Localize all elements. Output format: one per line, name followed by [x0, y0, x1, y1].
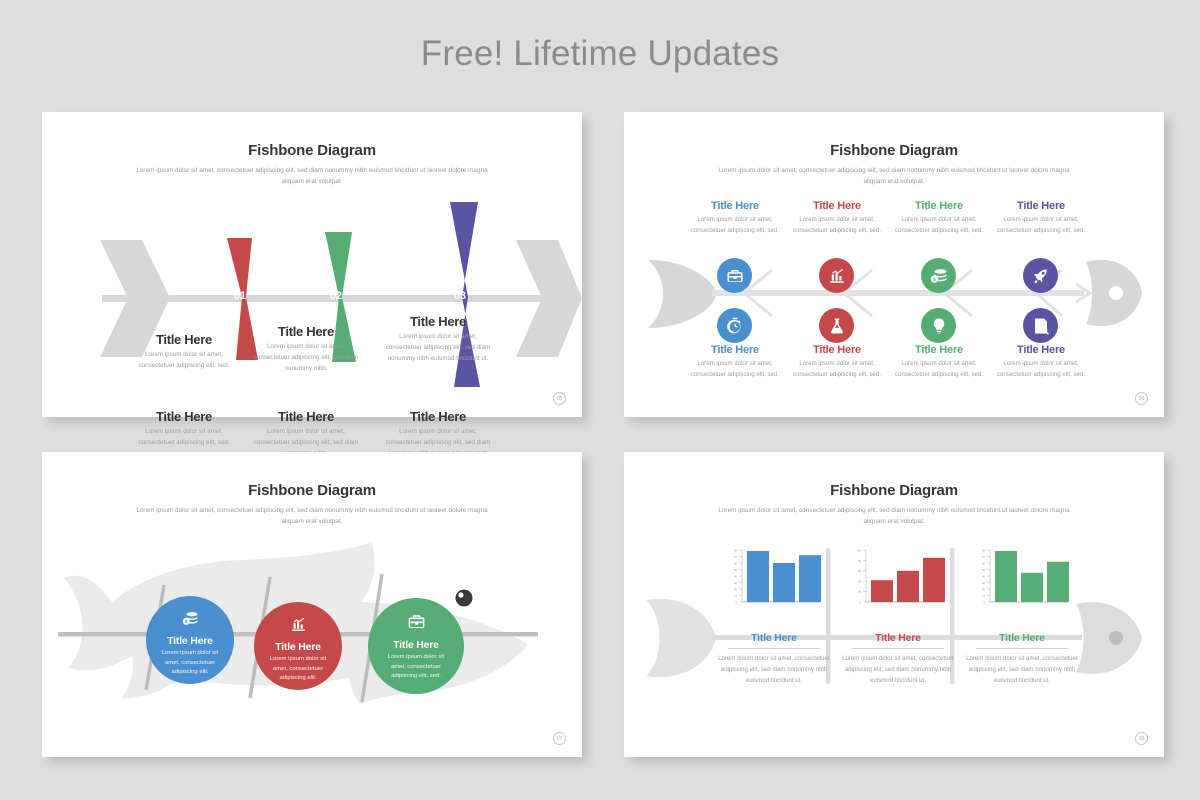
item-body: Lorem ipsum dolor sit amet, consectetuer… [682, 215, 788, 236]
item-body: Lorem ipsum dolor sit amet, consectetuer… [380, 653, 452, 682]
item-body: Lorem ipsum dolor sit amet, consectetuer… [382, 332, 494, 364]
item-body: Lorem ipsum dolor sit amet, consectetuer… [716, 654, 832, 687]
chart-1[interactable]: 80 70 60 50 40 30 20 10 0 [724, 548, 824, 610]
item-body: Lorem ipsum dolor sit amet, consectetuer… [154, 649, 226, 678]
slide2-top-item-1[interactable]: Title Here Lorem ipsum dolor sit amet, c… [682, 200, 788, 236]
slide-deck-preview: Free! Lifetime Updates Fishbone Diagram … [0, 0, 1200, 800]
briefcase-icon[interactable] [717, 258, 752, 293]
svg-text:60: 60 [858, 569, 861, 573]
item-body: Lorem ipsum dolor sit amet, consectetuer… [682, 359, 788, 380]
bar-chart-icon [290, 616, 307, 638]
item-body: Lorem ipsum dolor sit amet, consectetuer… [128, 350, 240, 372]
slide-fishbone-icons[interactable]: Fishbone Diagram Lorem ipsum dolor sit a… [624, 112, 1164, 417]
svg-text:20: 20 [982, 587, 985, 591]
item-title: Title Here [988, 200, 1094, 212]
item-title: Title Here [382, 314, 494, 329]
fish-eye [456, 590, 473, 607]
svg-text:$: $ [933, 276, 936, 282]
svg-text:40: 40 [858, 580, 861, 584]
item-body: Lorem ipsum dolor sit amet, consectetuer… [886, 215, 992, 236]
slide3-item-1[interactable]: $ Title Here Lorem ipsum dolor sit amet,… [146, 596, 234, 684]
svg-text:10: 10 [982, 594, 985, 598]
svg-text:40: 40 [734, 574, 737, 578]
chart-3-bars [995, 551, 1069, 602]
svg-text:80: 80 [982, 548, 985, 552]
bone-number-02: 02 [330, 290, 342, 302]
svg-text:70: 70 [982, 555, 985, 559]
svg-text:10: 10 [734, 594, 737, 598]
slide-fishbone-arrows[interactable]: Fishbone Diagram Lorem ipsum dolor sit a… [42, 112, 582, 417]
item-title: Title Here [886, 200, 992, 212]
chart-1-yaxis: 80 70 60 50 40 30 20 10 0 [734, 548, 742, 604]
fish-tail [646, 599, 716, 677]
slide1-page-number: 05 [553, 392, 566, 405]
item-body: Lorem ipsum dolor sit amet, consectetuer… [988, 215, 1094, 236]
item-body: Lorem ipsum dolor sit amet, consectetuer… [250, 342, 362, 374]
item-body: Lorem ipsum dolor sit amet, consectetuer… [886, 359, 992, 380]
slide1-top-item-2[interactable]: Title Here Lorem ipsum dolor sit amet, c… [250, 324, 362, 374]
svg-text:60: 60 [982, 561, 985, 565]
item-title: Title Here [275, 641, 321, 653]
slide2-bottom-item-3[interactable]: Title Here Lorem ipsum dolor sit amet, c… [886, 344, 992, 380]
slide4-page-number: 08 [1135, 732, 1148, 745]
svg-text:80: 80 [858, 559, 861, 563]
svg-text:0: 0 [984, 600, 986, 604]
slide2-bottom-item-2[interactable]: Title Here Lorem ipsum dolor sit amet, c… [784, 344, 890, 380]
slide3-page-number: 07 [553, 732, 566, 745]
chart-1-svg: 80 70 60 50 40 30 20 10 0 [724, 548, 824, 610]
slide1-top-item-1[interactable]: Title Here Lorem ipsum dolor sit amet, c… [128, 332, 240, 372]
slide3-item-3[interactable]: Title Here Lorem ipsum dolor sit amet, c… [368, 598, 464, 694]
item-title: Title Here [382, 409, 494, 424]
svg-text:80: 80 [734, 548, 737, 552]
item-body: Lorem ipsum dolor sit amet, consectetuer… [128, 427, 240, 449]
bone-number-01: 01 [234, 290, 246, 302]
item-body: Lorem ipsum dolor sit amet, consectetuer… [262, 655, 334, 684]
chart-3-yaxis: 80 70 60 50 40 30 20 10 0 [982, 548, 990, 604]
bone-number-03: 03 [454, 290, 466, 302]
coins-icon: $ [182, 610, 199, 632]
slide-fishbone-charts[interactable]: Fishbone Diagram Lorem ipsum dolor sit a… [624, 452, 1164, 757]
item-title: Title Here [840, 632, 956, 644]
slide4-item-2[interactable]: Title Here Lorem ipsum dolor sit amet, c… [840, 632, 956, 687]
slide1-bottom-item-1[interactable]: Title Here Lorem ipsum dolor sit amet, c… [128, 409, 240, 449]
slide3-item-2[interactable]: Title Here Lorem ipsum dolor sit amet, c… [254, 602, 342, 690]
item-title: Title Here [250, 324, 362, 339]
flask-icon[interactable] [819, 308, 854, 343]
fish-eye [1109, 286, 1123, 300]
chart-2-bars [871, 558, 945, 602]
svg-text:0: 0 [736, 600, 738, 604]
item-title: Title Here [128, 409, 240, 424]
item-title: Title Here [886, 344, 992, 356]
slide2-top-item-3[interactable]: Title Here Lorem ipsum dolor sit amet, c… [886, 200, 992, 236]
svg-text:70: 70 [734, 555, 737, 559]
chart-2-svg: 100 80 60 40 20 0 [848, 548, 948, 610]
chart-3-svg: 80 70 60 50 40 30 20 10 0 [972, 548, 1072, 610]
fish-eye [1109, 631, 1123, 645]
item-divider [976, 648, 1068, 649]
item-divider [728, 648, 820, 649]
item-title: Title Here [167, 635, 213, 647]
item-title: Title Here [988, 344, 1094, 356]
spine [712, 290, 1084, 296]
chart-2-yaxis: 100 80 60 40 20 0 [857, 548, 866, 604]
lightbulb-icon[interactable] [921, 308, 956, 343]
slide2-top-item-2[interactable]: Title Here Lorem ipsum dolor sit amet, c… [784, 200, 890, 236]
svg-text:50: 50 [982, 568, 985, 572]
item-title: Title Here [784, 344, 890, 356]
svg-text:50: 50 [734, 568, 737, 572]
item-title: Title Here [393, 639, 439, 651]
slide4-item-3[interactable]: Title Here Lorem ipsum dolor sit amet, c… [964, 632, 1080, 687]
item-title: Title Here [682, 344, 788, 356]
slide4-item-1[interactable]: Title Here Lorem ipsum dolor sit amet, c… [716, 632, 832, 687]
svg-text:100: 100 [857, 548, 862, 552]
chart-3[interactable]: 80 70 60 50 40 30 20 10 0 [972, 548, 1072, 610]
bar-chart-icon[interactable] [819, 258, 854, 293]
item-title: Title Here [128, 332, 240, 347]
item-body: Lorem ipsum dolor sit amet, consectetuer… [784, 359, 890, 380]
chart-2[interactable]: 100 80 60 40 20 0 [848, 548, 948, 610]
report-search-icon[interactable] [1023, 308, 1058, 343]
svg-text:20: 20 [858, 590, 861, 594]
chart-1-bars [747, 551, 821, 602]
svg-text:20: 20 [734, 587, 737, 591]
page-title: Free! Lifetime Updates [0, 34, 1200, 74]
slide2-bottom-item-4[interactable]: Title Here Lorem ipsum dolor sit amet, c… [988, 344, 1094, 380]
coins-icon[interactable]: $ [921, 258, 956, 293]
slide1-top-item-3[interactable]: Title Here Lorem ipsum dolor sit amet, c… [382, 314, 494, 364]
svg-text:30: 30 [734, 581, 737, 585]
svg-text:60: 60 [734, 561, 737, 565]
item-body: Lorem ipsum dolor sit amet, consectetuer… [784, 215, 890, 236]
svg-text:30: 30 [982, 581, 985, 585]
stopwatch-icon[interactable] [717, 308, 752, 343]
item-title: Title Here [964, 632, 1080, 644]
slide-fish-silhouette[interactable]: Fishbone Diagram Lorem ipsum dolor sit a… [42, 452, 582, 757]
slide2-top-item-4[interactable]: Title Here Lorem ipsum dolor sit amet, c… [988, 200, 1094, 236]
fish-eye-glint [458, 592, 463, 597]
item-body: Lorem ipsum dolor sit amet, consectetuer… [964, 654, 1080, 687]
svg-text:0: 0 [860, 600, 862, 604]
briefcase-icon [407, 612, 426, 636]
item-body: Lorem ipsum dolor sit amet, consectetuer… [840, 654, 956, 687]
item-body: Lorem ipsum dolor sit amet, consectetuer… [988, 359, 1094, 380]
slide2-bottom-item-1[interactable]: Title Here Lorem ipsum dolor sit amet, c… [682, 344, 788, 380]
fish-tail [648, 260, 716, 328]
rocket-icon[interactable] [1023, 258, 1058, 293]
item-title: Title Here [716, 632, 832, 644]
slide2-page-number: 06 [1135, 392, 1148, 405]
item-divider [852, 648, 944, 649]
item-title: Title Here [250, 409, 362, 424]
svg-text:$: $ [184, 619, 187, 624]
item-title: Title Here [784, 200, 890, 212]
svg-text:40: 40 [982, 574, 985, 578]
item-title: Title Here [682, 200, 788, 212]
